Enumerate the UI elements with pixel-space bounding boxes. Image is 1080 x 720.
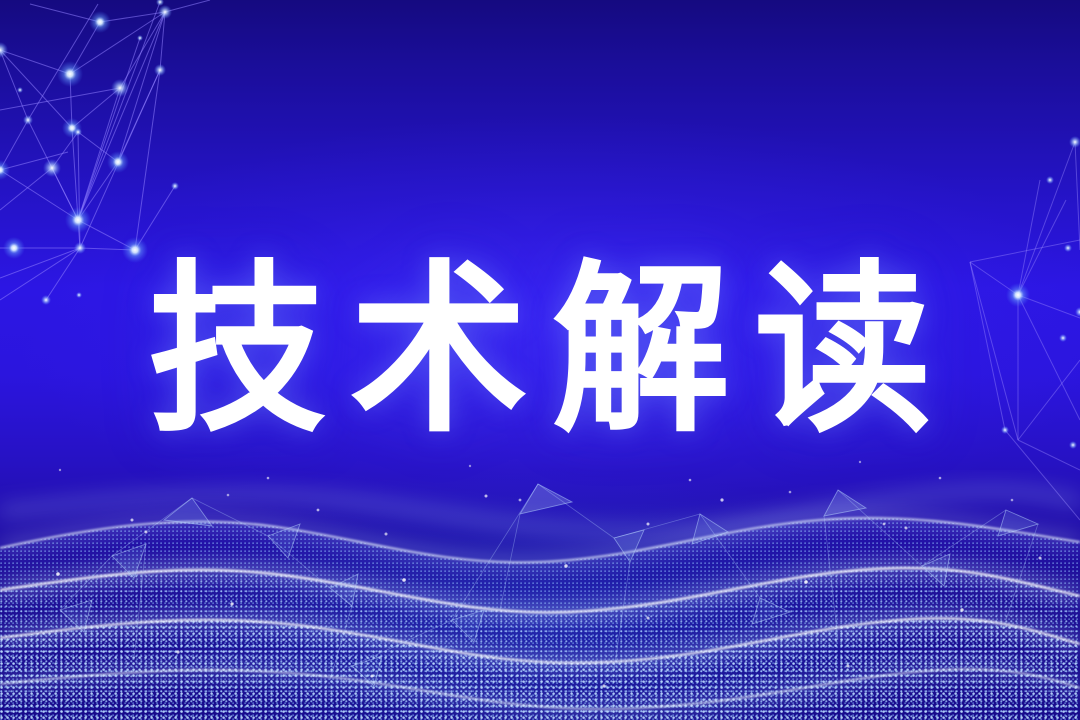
page-title: 技术解读	[124, 259, 956, 442]
headline-container: 技术解读	[0, 243, 1080, 458]
particle-wave-field	[0, 470, 1080, 720]
poster-canvas: 技术解读	[0, 0, 1080, 720]
